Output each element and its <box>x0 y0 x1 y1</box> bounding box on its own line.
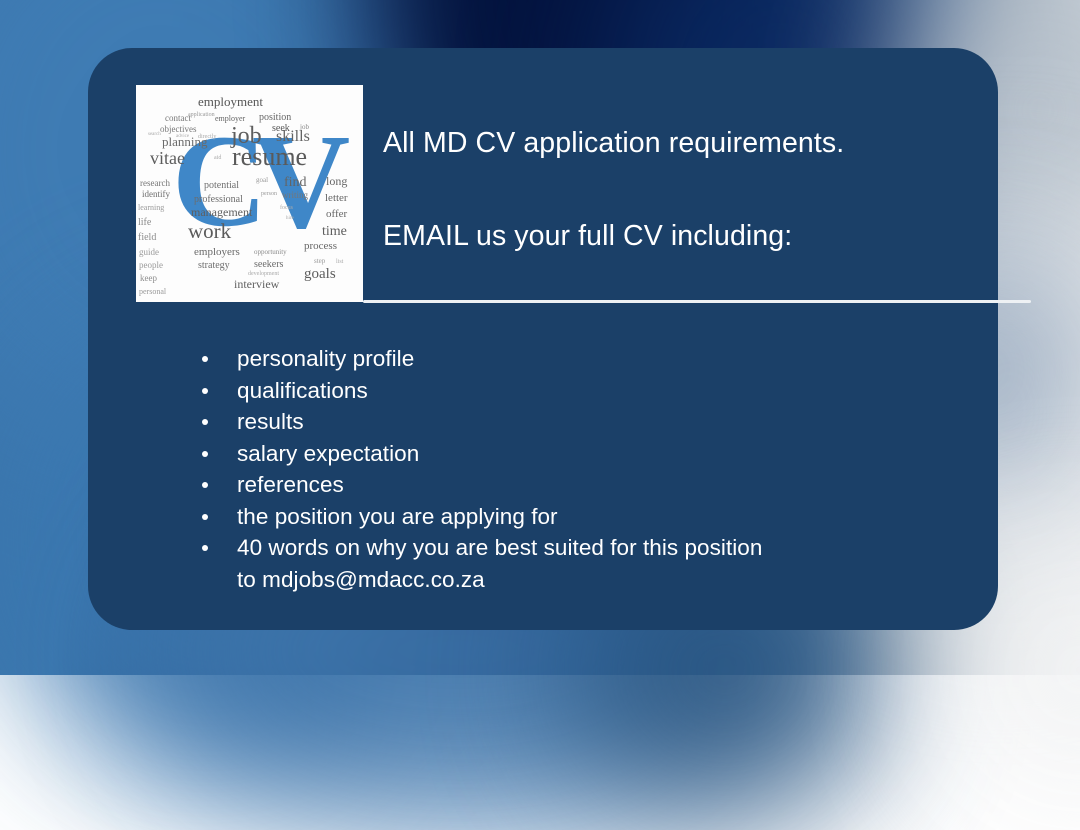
svg-text:employers: employers <box>194 246 240 258</box>
svg-text:aid: aid <box>214 155 221 161</box>
svg-text:search: search <box>148 132 161 137</box>
svg-text:management: management <box>191 205 253 219</box>
list-item: qualifications <box>198 375 988 407</box>
svg-text:opportunity: opportunity <box>254 248 287 256</box>
svg-text:time: time <box>322 224 347 239</box>
list-item-label: qualifications <box>237 378 368 403</box>
list-item: 40 words on why you are best suited for … <box>198 532 988 595</box>
svg-text:advice: advice <box>176 134 190 139</box>
svg-text:employment: employment <box>198 94 263 109</box>
list-item: salary expectation <box>198 438 988 470</box>
list-item-label: 40 words on why you are best suited for … <box>237 535 762 560</box>
horizontal-divider <box>363 300 1031 303</box>
svg-text:find: find <box>284 175 307 190</box>
svg-text:writing: writing <box>282 190 308 200</box>
heading-spacer <box>383 162 983 219</box>
svg-text:learning: learning <box>138 203 164 212</box>
list-item-label: results <box>237 409 304 434</box>
requirements-list: personality profile qualifications resul… <box>198 343 988 595</box>
svg-text:guide: guide <box>139 247 159 257</box>
svg-text:directly: directly <box>198 134 216 140</box>
list-item: references <box>198 469 988 501</box>
svg-text:potential: potential <box>204 180 239 191</box>
svg-text:keep: keep <box>140 273 157 283</box>
svg-text:professional: professional <box>194 194 243 205</box>
wordcloud-svg: C V employment application contact emplo… <box>136 85 363 302</box>
svg-text:application: application <box>188 112 215 118</box>
svg-text:seekers: seekers <box>254 259 284 270</box>
svg-text:goal: goal <box>256 176 268 184</box>
content-card: C V employment application contact emplo… <box>88 48 998 630</box>
heading-line-2: EMAIL us your full CV including: <box>383 219 983 255</box>
svg-text:person: person <box>261 191 277 197</box>
svg-text:work: work <box>188 219 232 243</box>
list-item: the position you are applying for <box>198 501 988 533</box>
svg-text:resume: resume <box>232 142 307 171</box>
list-item-label: references <box>237 472 344 497</box>
svg-text:field: field <box>138 232 156 243</box>
svg-text:long: long <box>326 174 347 188</box>
svg-text:objectives: objectives <box>160 124 197 134</box>
svg-text:vitae: vitae <box>150 148 185 168</box>
svg-text:strategy: strategy <box>198 260 230 271</box>
svg-text:research: research <box>140 178 170 188</box>
heading-line-1: All MD CV application requirements. <box>383 126 983 162</box>
svg-text:step: step <box>314 257 326 265</box>
svg-text:life: life <box>138 217 152 228</box>
svg-text:personal: personal <box>139 287 167 296</box>
svg-text:interview: interview <box>234 277 280 291</box>
svg-text:offer: offer <box>326 208 348 220</box>
email-line[interactable]: to mdjobs@mdacc.co.za <box>237 564 988 596</box>
svg-text:identify: identify <box>142 189 170 199</box>
list-item-label: salary expectation <box>237 441 419 466</box>
svg-text:list: list <box>336 259 344 265</box>
svg-text:contact: contact <box>165 113 191 123</box>
list-item: results <box>198 406 988 438</box>
cv-wordcloud-image: C V employment application contact emplo… <box>136 85 363 302</box>
svg-text:focus: focus <box>280 204 294 211</box>
svg-text:letter: letter <box>325 192 348 204</box>
svg-text:hire: hire <box>286 216 295 221</box>
svg-text:position: position <box>259 112 291 123</box>
list-item-label: personality profile <box>237 346 414 371</box>
list-item: personality profile <box>198 343 988 375</box>
heading-block: All MD CV application requirements. EMAI… <box>383 126 983 254</box>
list-item-label: the position you are applying for <box>237 504 558 529</box>
svg-text:people: people <box>139 260 163 270</box>
svg-text:goals: goals <box>304 266 336 282</box>
svg-text:process: process <box>304 240 337 252</box>
svg-text:employer: employer <box>215 114 246 123</box>
